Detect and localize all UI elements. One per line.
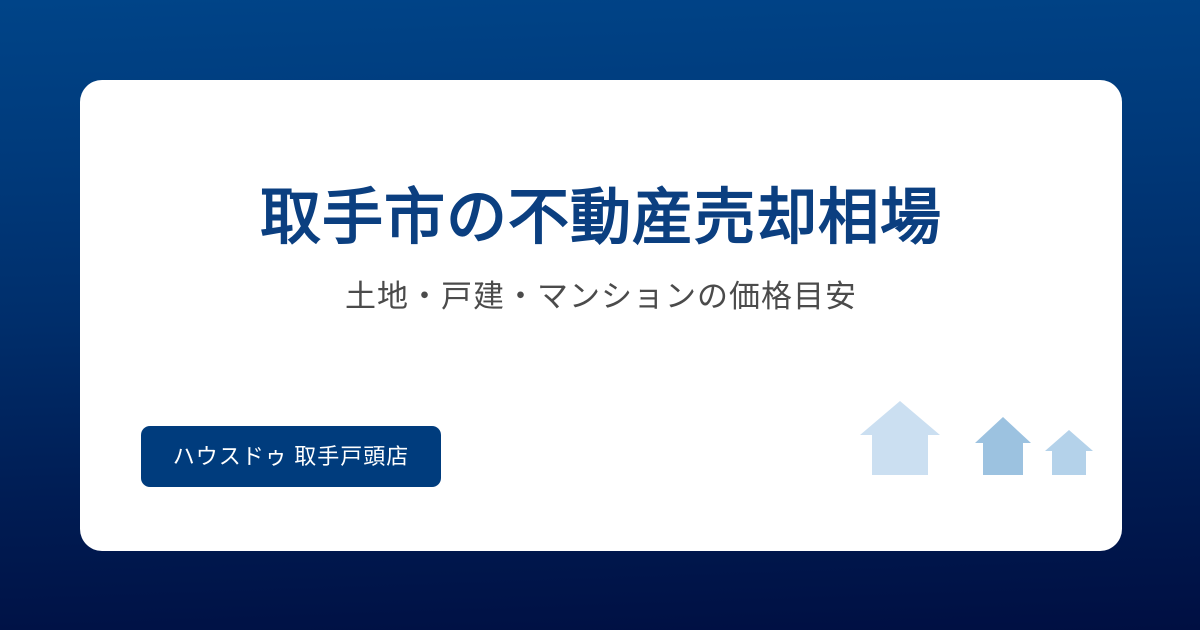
og-image-canvas: 取手市の不動産売却相場 土地・戸建・マンションの価格目安 ハウスドゥ 取手戸頭店 [0, 0, 1200, 630]
house-medium-icon [975, 416, 1031, 475]
brand-badge: ハウスドゥ 取手戸頭店 [141, 426, 441, 487]
content-card: 取手市の不動産売却相場 土地・戸建・マンションの価格目安 ハウスドゥ 取手戸頭店 [80, 80, 1122, 551]
brand-badge-label: ハウスドゥ 取手戸頭店 [173, 446, 410, 468]
house-large-icon [860, 400, 940, 475]
headline-block: 取手市の不動産売却相場 土地・戸建・マンションの価格目安 [80, 188, 1122, 315]
house-small-icon [1045, 429, 1093, 475]
page-title: 取手市の不動産売却相場 [80, 188, 1122, 250]
page-subtitle: 土地・戸建・マンションの価格目安 [80, 250, 1122, 315]
house-illustration-group [852, 390, 1102, 475]
